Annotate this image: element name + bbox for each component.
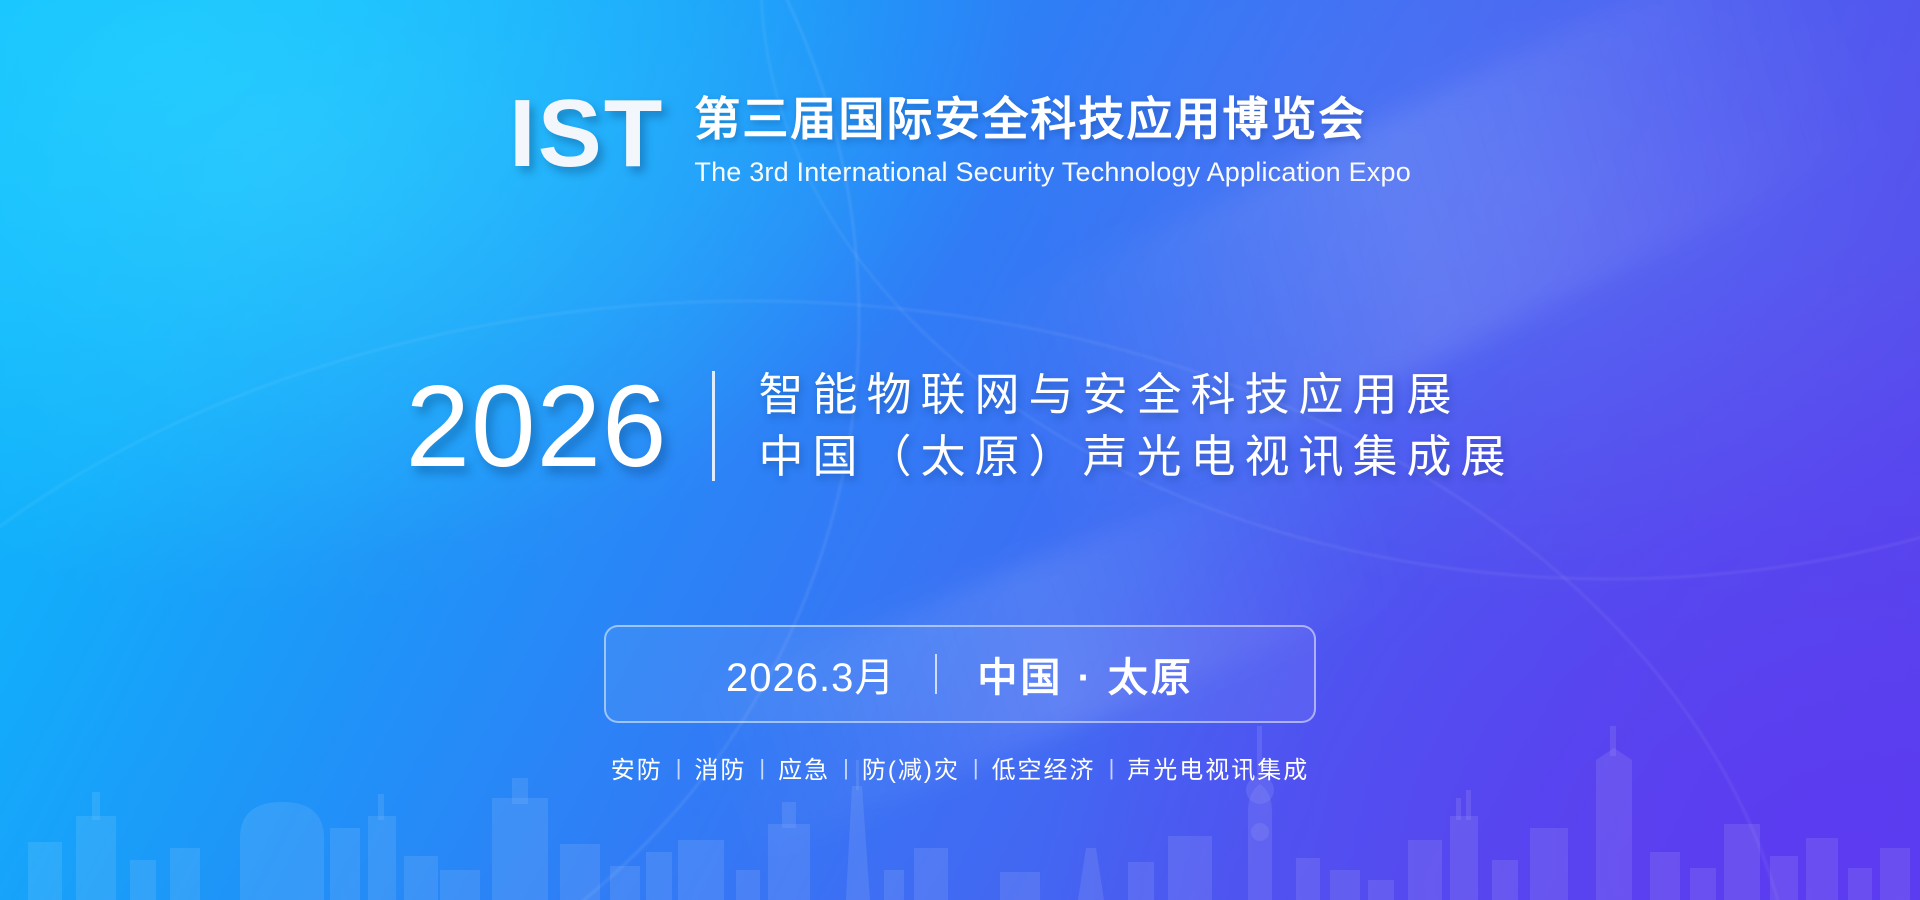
category-tags-list: 安防|消防|应急|防(减)灾|低空经济|声光电视讯集成 <box>611 750 1310 785</box>
tag-separator: | <box>960 755 992 781</box>
event-info-box: 2026.3月 中国 · 太原 <box>604 625 1316 723</box>
category-tag[interactable]: 应急 <box>778 750 830 785</box>
edition-year: 2026 <box>405 368 711 484</box>
event-location: 中国 · 太原 <box>977 645 1194 703</box>
expo-title-english: The 3rd International Security Technolog… <box>694 157 1411 188</box>
expo-title-chinese: 第三届国际安全科技应用博览会 <box>694 94 1411 145</box>
tag-separator: | <box>1096 755 1128 781</box>
info-divider <box>935 654 937 694</box>
expo-banner: IST 第三届国际安全科技应用博览会 The 3rd International… <box>0 0 1920 900</box>
event-date: 2026.3月 <box>726 645 895 703</box>
category-tag[interactable]: 消防 <box>694 750 746 785</box>
category-tag[interactable]: 声光电视讯集成 <box>1127 750 1309 785</box>
theme-line-secondary: 中国（太原）声光电视讯集成展 <box>759 432 1515 482</box>
theme-line-primary: 智能物联网与安全科技应用展 <box>759 370 1515 420</box>
tag-separator: | <box>746 755 778 781</box>
category-tags-block: 安防|消防|应急|防(减)灾|低空经济|声光电视讯集成 <box>0 750 1920 785</box>
tag-separator: | <box>830 755 862 781</box>
banner-content: IST 第三届国际安全科技应用博览会 The 3rd International… <box>0 0 1920 900</box>
header-block: IST 第三届国际安全科技应用博览会 The 3rd International… <box>0 88 1920 188</box>
category-tag[interactable]: 安防 <box>611 750 663 785</box>
category-tag[interactable]: 防(减)灾 <box>862 750 960 785</box>
event-info-block: 2026.3月 中国 · 太原 <box>0 625 1920 723</box>
vertical-divider <box>712 371 715 481</box>
category-tag[interactable]: 低空经济 <box>992 750 1096 785</box>
ist-logo-mark: IST <box>509 90 664 178</box>
theme-block: 2026 智能物联网与安全科技应用展 中国（太原）声光电视讯集成展 <box>0 368 1920 484</box>
tag-separator: | <box>663 755 695 781</box>
